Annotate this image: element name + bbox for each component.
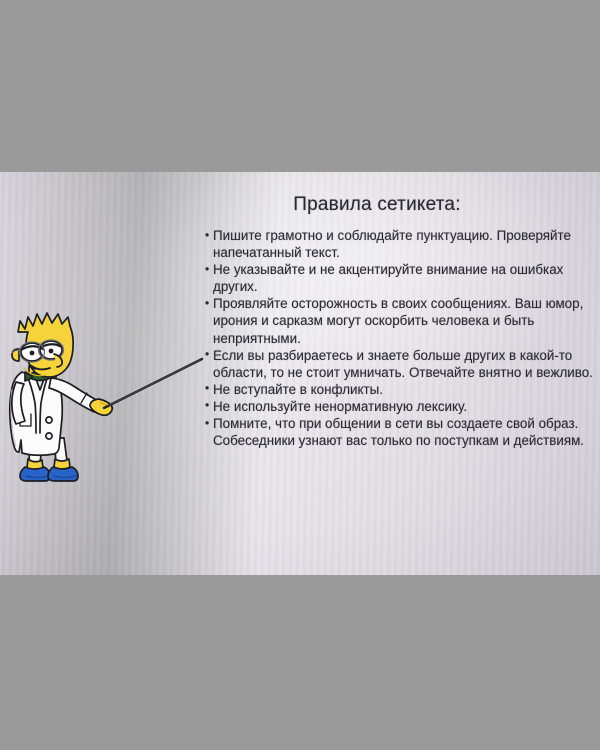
list-item: Пишите грамотно и соблюдайте пунктуацию.… (206, 227, 594, 261)
left-pupil (30, 351, 35, 356)
list-item: Не указывайте и не акцентируйте внимание… (206, 261, 594, 295)
right-pupil (49, 349, 54, 354)
left-shoe (20, 467, 50, 481)
list-item: Проявляйте осторожность в своих сообщени… (206, 295, 594, 346)
list-item: Помните, что при общении в сети вы созда… (206, 415, 594, 449)
list-item: Если вы разбираетесь и знаете больше дру… (206, 347, 594, 381)
list-item: Не вступайте в конфликты. (206, 381, 594, 398)
slide-text-column: Правила сетикета: Пишите грамотно и собл… (206, 194, 594, 449)
presentation-slide: Правила сетикета: Пишите грамотно и собл… (0, 172, 600, 575)
netiquette-rules-list: Пишите грамотно и соблюдайте пунктуацию.… (206, 227, 594, 449)
coat-button-top (46, 417, 52, 423)
coat-button-bottom (46, 433, 52, 439)
photo-frame: Правила сетикета: Пишите грамотно и собл… (0, 0, 600, 750)
page-title: Правила сетикета: (206, 194, 594, 216)
bart-simpson-illustration (4, 286, 214, 516)
list-item: Не используйте ненормативную лексику. (206, 398, 594, 415)
bart-simpson-figure (4, 286, 214, 516)
right-shoe (48, 467, 78, 481)
